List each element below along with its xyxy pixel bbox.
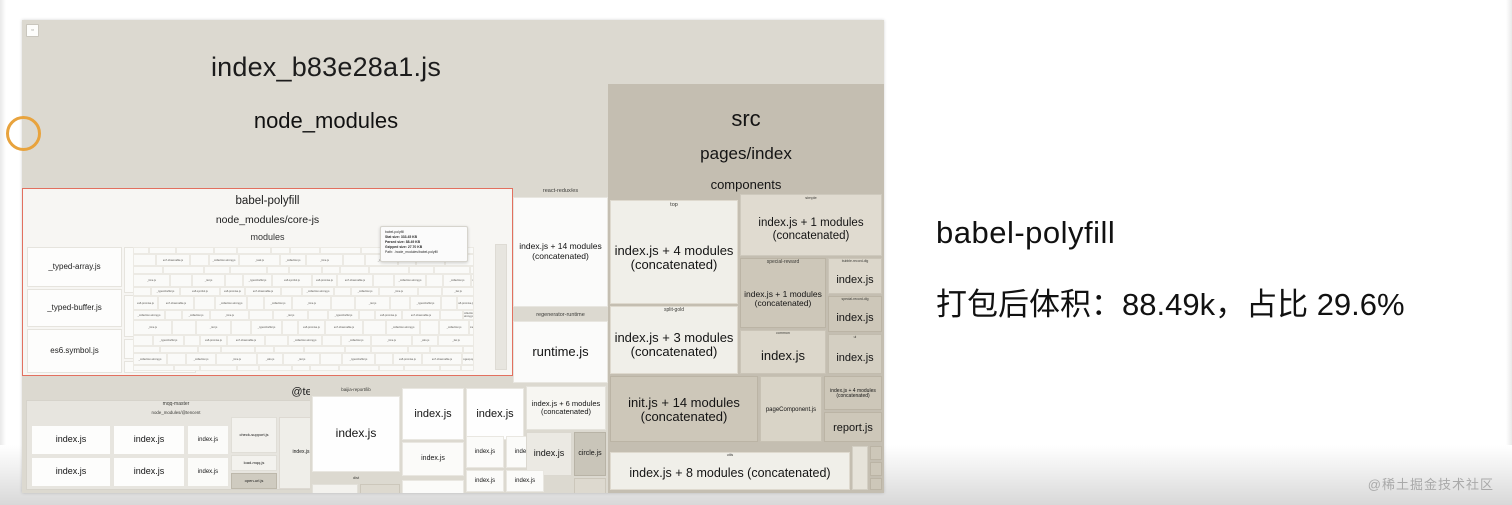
treemap-leaf[interactable]: _typed-buffer.js	[328, 310, 359, 320]
treemap-group[interactable]: now-pbmqttunifo nowjs.js	[26, 492, 326, 493]
treemap-leaf[interactable]	[408, 346, 430, 353]
treemap-leaf[interactable]: _time.js	[371, 335, 412, 346]
treemap-leaf[interactable]: index.js	[402, 480, 464, 493]
treemap-leaf[interactable]: es7.observable.js	[156, 254, 190, 266]
treemap-leaf[interactable]: index.js	[113, 457, 185, 487]
treemap-leaf[interactable]	[322, 335, 341, 346]
group-header: bubble-record-dlg	[829, 260, 881, 264]
components-label: components	[608, 177, 884, 192]
treemap-leaf[interactable]: circle.js	[574, 432, 606, 476]
group-header: dist	[312, 476, 400, 480]
treemap-leaf[interactable]: index.js	[31, 425, 111, 455]
treemap-leaf[interactable]: _time.js	[471, 274, 474, 287]
treemap-leaf[interactable]: index.js	[402, 442, 464, 476]
watermark: @稀土掘金技术社区	[1368, 474, 1494, 493]
treemap-group[interactable]: pageComponent.js	[760, 376, 822, 442]
treemap-leaf[interactable]	[290, 247, 320, 254]
treemap-leaf[interactable]	[170, 274, 192, 287]
treemap-leaf[interactable]	[133, 254, 156, 266]
src-label: src	[608, 106, 884, 132]
treemap-leaf[interactable]	[230, 266, 267, 274]
treemap-leaf[interactable]	[247, 296, 264, 310]
treemap-leaf[interactable]	[267, 266, 289, 274]
treemap-group[interactable]: init.js + 14 modules (concatenated)	[610, 376, 758, 442]
treemap-leaf[interactable]	[265, 335, 288, 346]
treemap-leaf[interactable]: _collection.js	[264, 296, 292, 310]
treemap-leaf[interactable]	[375, 353, 393, 365]
treemap-leaf[interactable]	[133, 335, 153, 346]
treemap-leaf[interactable]: _wks.js	[257, 353, 283, 365]
treemap-leaf[interactable]: es7.observable.js	[158, 296, 194, 310]
treemap-leaf[interactable]: index.js + 4 modules (concatenated)	[611, 213, 737, 303]
treemap-leaf[interactable]: _typed-array.js	[27, 247, 122, 287]
treemap-leaf[interactable]: _collection-strong.js	[288, 335, 322, 346]
treemap-leaf[interactable]	[133, 247, 149, 254]
group-header: top	[611, 202, 737, 208]
treemap-leaf[interactable]: _task.js	[239, 254, 280, 266]
treemap-group[interactable]: split-gold index.js + 3 modules (concate…	[610, 306, 738, 374]
treemap-leaf[interactable]: _time.js	[379, 287, 418, 296]
treemap-leaf[interactable]	[160, 346, 198, 353]
treemap-leaf[interactable]: _iter.js	[283, 353, 320, 365]
treemap-leaf[interactable]	[237, 365, 259, 371]
treemap-leaf[interactable]	[339, 365, 379, 371]
treemap-leaf[interactable]	[440, 365, 461, 371]
bundle-title: index_b83e28a1.js	[22, 52, 630, 83]
treemap-leaf[interactable]	[255, 346, 274, 353]
treemap-leaf[interactable]: index.js + 1 modules (concatenated)	[741, 271, 825, 327]
treemap-leaf[interactable]: index.js	[506, 470, 544, 492]
group-header: common	[741, 332, 825, 336]
treemap-leaf[interactable]: es7.observable.js	[325, 320, 363, 335]
treemap-leaf[interactable]	[463, 346, 474, 353]
group-header: regenerator-runtime	[513, 312, 608, 318]
treemap-leaf[interactable]	[852, 446, 868, 490]
treemap-leaf[interactable]	[198, 346, 221, 353]
treemap-group[interactable]: bubble-record-dlg index.js	[828, 258, 882, 294]
treemap-leaf[interactable]: es7.observable.js	[402, 310, 440, 320]
group-subheader: node_modules/@tencent	[27, 411, 325, 416]
treemap-leaf[interactable]: index.js + 14 modules (concatenated)	[513, 197, 608, 307]
treemap-leaf[interactable]: _collection-strong.js	[302, 287, 334, 296]
treemap-group[interactable]: special-reward index.js + 1 modules (con…	[740, 258, 826, 328]
treemap-leaf[interactable]: _time.js	[216, 353, 257, 365]
treemap-leaf[interactable]: es7.observable.js	[337, 274, 373, 287]
treemap-scrollbar[interactable]	[495, 244, 507, 370]
treemap-leaf[interactable]: _wks.js	[412, 335, 438, 346]
treemap-leaf[interactable]: _collection-strong.js	[394, 274, 426, 287]
treemap-leaf[interactable]	[194, 296, 215, 310]
treemap-leaf[interactable]: _collection-strong.js	[209, 254, 239, 266]
tooltip-parsed-label: Parsed size:	[385, 240, 405, 244]
treemap-leaf[interactable]	[231, 320, 251, 335]
treemap-leaf[interactable]: es6.promise.js	[393, 353, 422, 365]
treemap-leaf[interactable]: es6.promise.js	[312, 274, 337, 287]
treemap-leaf[interactable]	[133, 266, 163, 274]
treemap-leaf[interactable]: es6.symbol.js	[272, 274, 312, 287]
treemap-leaf[interactable]	[322, 266, 340, 274]
treemap-leaf[interactable]: _collection.js	[351, 287, 379, 296]
treemap-leaf[interactable]	[331, 296, 355, 310]
treemap-leaf[interactable]	[440, 310, 463, 320]
node-modules-label: node_modules	[22, 108, 630, 134]
treemap-leaf[interactable]: es6.symbol.js	[27, 329, 122, 373]
treemap-leaf[interactable]	[345, 346, 371, 353]
treemap-leaf[interactable]: _collection-strong.js	[386, 320, 420, 335]
tooltip-stat-value: 333.45 KB	[401, 235, 417, 239]
treemap-leaf[interactable]: es6.regexp.split.js	[462, 353, 474, 365]
treemap-leaf[interactable]	[165, 310, 182, 320]
treemap-leaf[interactable]: _iter.js	[355, 296, 390, 310]
treemap-leaf[interactable]: index.js	[312, 396, 400, 472]
treemap-leaf[interactable]	[204, 266, 230, 274]
treemap-leaf[interactable]	[249, 310, 273, 320]
treemap-leaf[interactable]: open-url.js	[231, 473, 277, 489]
treemap-leaf[interactable]	[172, 320, 196, 335]
node-modules-group[interactable]: node_modules babel-polyfill node_modules…	[22, 84, 630, 493]
treemap-leaf[interactable]	[430, 346, 463, 353]
treemap-leaf[interactable]	[133, 287, 151, 296]
treemap-leaf[interactable]: index.js	[829, 267, 881, 293]
bundle-treemap[interactable]: ▫ index_b83e28a1.js node_modules babel-p…	[22, 20, 884, 493]
treemap-leaf[interactable]	[149, 247, 176, 254]
treemap-leaf[interactable]	[176, 247, 214, 254]
treemap-leaf[interactable]	[200, 365, 237, 371]
treemap-leaf[interactable]	[214, 247, 237, 254]
treemap-leaf[interactable]: index.js + 6 modules (concatenated)	[526, 386, 606, 430]
treemap-leaf[interactable]: index.js + 8 modules (concatenated)	[611, 459, 849, 489]
treemap-leaf[interactable]: _typed-buffer.js	[342, 353, 375, 365]
middle-column[interactable]: react-redux/es index.js + 14 modules (co…	[513, 188, 608, 384]
treemap-leaf[interactable]	[320, 353, 342, 365]
treemap-leaf[interactable]: _typed-buffer.js	[151, 287, 180, 296]
treemap-leaf[interactable]	[133, 346, 160, 353]
treemap-leaf[interactable]	[390, 296, 410, 310]
tooltip-path-value: ./node_modules/babel-polyfill	[394, 250, 438, 254]
tooltip-stat-label: Stat size:	[385, 235, 400, 239]
treemap-leaf[interactable]	[167, 353, 186, 365]
treemap-leaf[interactable]: es6.promise.js	[457, 296, 474, 310]
group-header: special-record-dlg	[829, 298, 881, 302]
tooltip-gzip-label: Gzipped size:	[385, 245, 407, 249]
treemap-leaf[interactable]	[379, 365, 404, 371]
treemap-leaf[interactable]	[363, 320, 386, 335]
group-header: special-reward	[741, 260, 825, 266]
treemap-leaf[interactable]: _time.js	[292, 296, 331, 310]
treemap-leaf[interactable]: index.js	[829, 305, 881, 331]
treemap-leaf[interactable]	[870, 478, 882, 490]
treemap-leaf[interactable]	[184, 335, 200, 346]
treemap-leaf[interactable]: index.js + 1 modules (concatenated)	[741, 205, 881, 255]
treemap-leaf[interactable]	[334, 287, 351, 296]
treemap-leaf[interactable]: _iter.js	[196, 320, 231, 335]
group-header: simple	[741, 196, 881, 200]
treemap-group[interactable]: report.js	[824, 412, 882, 442]
misc-modules-cluster[interactable]: baijia-report/lib index.js index.js inde…	[310, 384, 608, 493]
treemap-leaf[interactable]	[426, 274, 443, 287]
treemap-leaf[interactable]: _collection.js	[182, 310, 210, 320]
treemap-leaf[interactable]: index.js	[187, 425, 229, 455]
treemap-leaf[interactable]: runtime.js	[513, 321, 608, 383]
treemap-leaf[interactable]: core.js	[312, 484, 358, 493]
treemap-leaf[interactable]	[237, 247, 271, 254]
tooltip-parsed-value: 88.49 KB	[406, 240, 420, 244]
treemap-leaf[interactable]	[418, 287, 442, 296]
treemap-leaf[interactable]	[163, 266, 204, 274]
treemap-leaf[interactable]: es7.observable.js	[422, 353, 462, 365]
treemap-leaf[interactable]	[310, 365, 339, 371]
treemap-leaf[interactable]	[409, 266, 434, 274]
treemap-leaf[interactable]: init.js + 14 modules (concatenated)	[611, 379, 757, 441]
treemap-leaf[interactable]: _collection-strong.js	[463, 310, 474, 320]
treemap-leaf[interactable]	[343, 254, 365, 266]
treemap-leaf[interactable]: _collection.js	[443, 274, 471, 287]
treemap-leaf[interactable]: _iter.js	[273, 310, 308, 320]
treemap-leaf[interactable]: _collection.js	[341, 335, 371, 346]
group-header: react-redux/es	[513, 188, 608, 194]
treemap-leaf[interactable]: index.js	[187, 457, 229, 487]
slide-left-edge	[0, 0, 6, 505]
module-tooltip: babel-polyfill Stat size: 333.45 KB Pars…	[380, 226, 468, 262]
treemap-leaf[interactable]: index.js	[402, 388, 464, 440]
treemap-leaf[interactable]	[174, 365, 200, 371]
treemap-leaf[interactable]: es6.promise.js	[200, 335, 227, 346]
babel-polyfill-block[interactable]: babel-polyfill node_modules/core-js modu…	[22, 188, 513, 376]
treemap-leaf[interactable]	[404, 365, 440, 371]
treemap-leaf[interactable]	[289, 266, 322, 274]
group-header: mqq-master	[27, 402, 325, 408]
group-header: baijia-report/lib	[312, 388, 400, 393]
treemap-leaf[interactable]: index.js	[466, 436, 504, 468]
babel-polyfill-module-grid[interactable]: es7.observable.js_collection-strong.js_t…	[133, 247, 474, 371]
treemap-leaf[interactable]	[470, 266, 474, 274]
treemap-leaf[interactable]: _collection-strong.js	[133, 310, 165, 320]
treemap-leaf[interactable]: fetch.js	[360, 484, 400, 493]
babel-polyfill-path: node_modules/core-js	[23, 214, 512, 226]
treemap-leaf[interactable]: load-mqq.js	[231, 455, 277, 471]
treemap-leaf[interactable]: index.js	[466, 388, 524, 440]
treemap-leaf[interactable]: _iter.js	[438, 335, 474, 346]
treemap-leaf[interactable]	[308, 310, 328, 320]
treemap-leaf[interactable]: es7.observable.js	[227, 335, 265, 346]
treemap-leaf[interactable]	[320, 247, 361, 254]
treemap-leaf[interactable]: index.js + 3 modules (concatenated)	[611, 317, 737, 373]
treemap-leaf[interactable]	[304, 346, 345, 353]
treemap-leaf[interactable]: es7.observable.js	[245, 287, 281, 296]
treemap-leaf[interactable]	[259, 365, 292, 371]
babel-polyfill-name: babel-polyfill	[23, 195, 512, 207]
treemap-leaf[interactable]: _collection.js	[439, 320, 469, 335]
group-header: split-gold	[611, 308, 737, 314]
callout-package-name: babel-polyfill	[936, 215, 1496, 251]
treemap-leaf[interactable]: _typed-buffer.js	[27, 289, 122, 327]
tooltip-path-label: Path:	[385, 250, 393, 254]
treemap-leaf[interactable]: es6.promise.js	[220, 287, 245, 296]
treemap-group[interactable]: special-record-dlg index.js	[828, 296, 882, 332]
treemap-leaf[interactable]: es6.promise.js	[375, 310, 402, 320]
treemap-leaf[interactable]	[281, 287, 302, 296]
treemap-leaf[interactable]: index.js	[829, 343, 881, 373]
callout-summary: 打包后体积：88.49k，占比 29.6%	[936, 279, 1496, 324]
treemap-leaf[interactable]: _typed-buffer.js	[243, 274, 272, 287]
treemap-leaf[interactable]: _collection-strong.js	[215, 296, 247, 310]
treemap-leaf[interactable]	[434, 266, 470, 274]
treemap-leaf[interactable]	[870, 462, 882, 476]
group-header: utils	[611, 454, 849, 458]
treemap-group[interactable]: simple index.js + 1 modules (concatenate…	[740, 194, 882, 256]
annotation-circle	[6, 116, 41, 151]
treemap-group[interactable]: utils index.js + 8 modules (concatenated…	[610, 452, 850, 490]
treemap-leaf[interactable]: pageComponent.js	[761, 379, 821, 441]
pages-index-label: pages/index	[608, 144, 884, 164]
treemap-leaf[interactable]: _typed-buffer.js	[410, 296, 441, 310]
treemap-leaf[interactable]: es6.promise.js	[133, 296, 158, 310]
treemap-leaf[interactable]	[371, 346, 408, 353]
treemap-leaf[interactable]	[225, 274, 243, 287]
treemap-leaf[interactable]: es6.symbol.js	[180, 287, 220, 296]
treemap-leaf[interactable]: _iter.js	[192, 274, 225, 287]
treemap-group[interactable]: mqq-master node_modules/@tencent index.j…	[26, 400, 326, 490]
treemap-leaf[interactable]	[441, 296, 457, 310]
treemap-leaf[interactable]	[420, 320, 439, 335]
group-header: ui	[829, 336, 881, 340]
treemap-leaf[interactable]: _collection-strong.js	[133, 353, 167, 365]
treemap-group[interactable]: ui index.js	[828, 334, 882, 374]
treemap-leaf[interactable]: index.js + 4 modules (concatenated)	[825, 379, 881, 409]
treemap-leaf[interactable]: index.js	[741, 339, 825, 373]
expand-icon[interactable]: ▫	[26, 24, 39, 37]
treemap-leaf[interactable]: _collection.js	[186, 353, 216, 365]
treemap-leaf[interactable]: _time.js	[133, 274, 170, 287]
treemap-leaf[interactable]: es6.promise.js	[298, 320, 325, 335]
treemap-leaf[interactable]: _time.js	[210, 310, 249, 320]
treemap-leaf[interactable]	[359, 310, 375, 320]
tooltip-gzip-value: 27.70 KB	[408, 245, 422, 249]
treemap-group[interactable]: top index.js + 4 modules (concatenated)	[610, 200, 738, 304]
treemap-leaf[interactable]: _collection.js	[280, 254, 306, 266]
treemap-group[interactable]: common index.js	[740, 330, 826, 374]
treemap-leaf[interactable]	[133, 365, 174, 371]
treemap-leaf[interactable]: index.js	[31, 457, 111, 487]
treemap-leaf[interactable]	[870, 446, 882, 460]
treemap-leaf[interactable]	[271, 247, 290, 254]
treemap-leaf[interactable]: _typed-buffer.js	[251, 320, 282, 335]
treemap-group[interactable]: index.js + 4 modules (concatenated)	[824, 376, 882, 410]
treemap-leaf[interactable]: _iter.js	[442, 287, 474, 296]
slide-right-edge	[1506, 0, 1512, 505]
treemap-leaf[interactable]: _time.js	[469, 320, 474, 335]
treemap-leaf[interactable]	[292, 365, 310, 371]
treemap-leaf[interactable]	[274, 346, 304, 353]
treemap-leaf[interactable]	[369, 266, 409, 274]
treemap-leaf[interactable]	[373, 274, 394, 287]
treemap-leaf[interactable]: _typed-buffer.js	[153, 335, 184, 346]
treemap-leaf[interactable]: index.js	[466, 470, 504, 492]
treemap-leaf[interactable]: _time.js	[306, 254, 343, 266]
treemap-leaf[interactable]: _time.js	[133, 320, 172, 335]
treemap-leaf[interactable]: check-support.js	[231, 417, 277, 453]
treemap-leaf[interactable]	[221, 346, 255, 353]
callout-panel: babel-polyfill 打包后体积：88.49k，占比 29.6%	[936, 215, 1496, 324]
treemap-leaf[interactable]: report.js	[825, 415, 881, 441]
treemap-leaf[interactable]: circle.js	[574, 478, 606, 493]
treemap-leaf[interactable]	[461, 365, 474, 371]
src-group[interactable]: src pages/index components top index.js …	[608, 84, 884, 493]
treemap-leaf[interactable]	[340, 266, 369, 274]
treemap-leaf[interactable]: index.js	[113, 425, 185, 455]
treemap-leaf[interactable]	[190, 254, 209, 266]
treemap-leaf[interactable]	[282, 320, 298, 335]
